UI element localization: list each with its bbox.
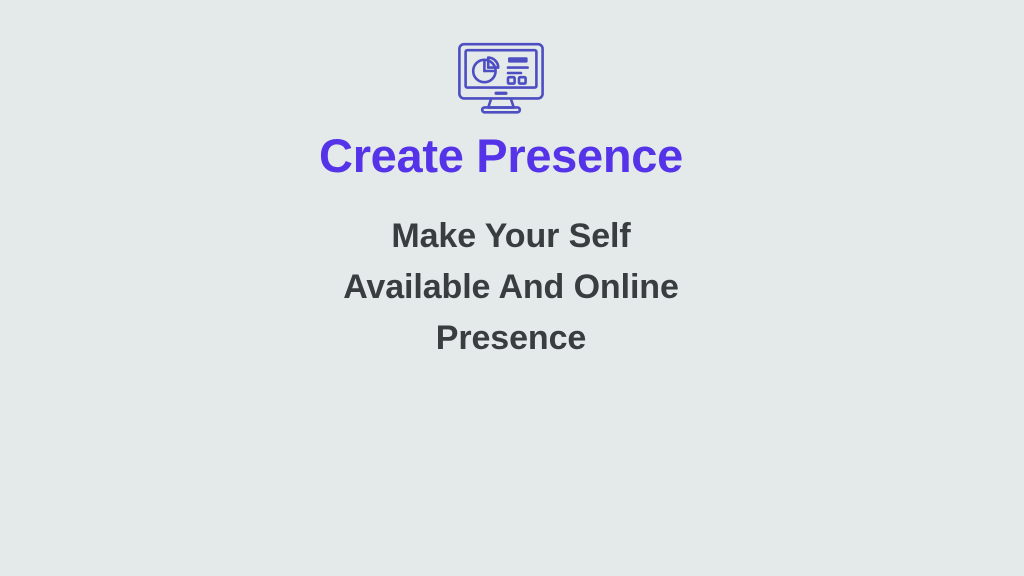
- slide-content: Create Presence Make Your Self Available…: [0, 0, 1024, 364]
- dashboard-monitor-icon: [455, 41, 547, 115]
- slide-canvas: Create Presence Make Your Self Available…: [0, 0, 1024, 576]
- page-title: Create Presence: [319, 130, 683, 183]
- subtitle-line-3: Presence: [343, 313, 679, 364]
- subtitle-line-2: Available And Online: [343, 262, 679, 313]
- subtitle: Make Your Self Available And Online Pres…: [343, 211, 679, 364]
- subtitle-line-1: Make Your Self: [343, 211, 679, 262]
